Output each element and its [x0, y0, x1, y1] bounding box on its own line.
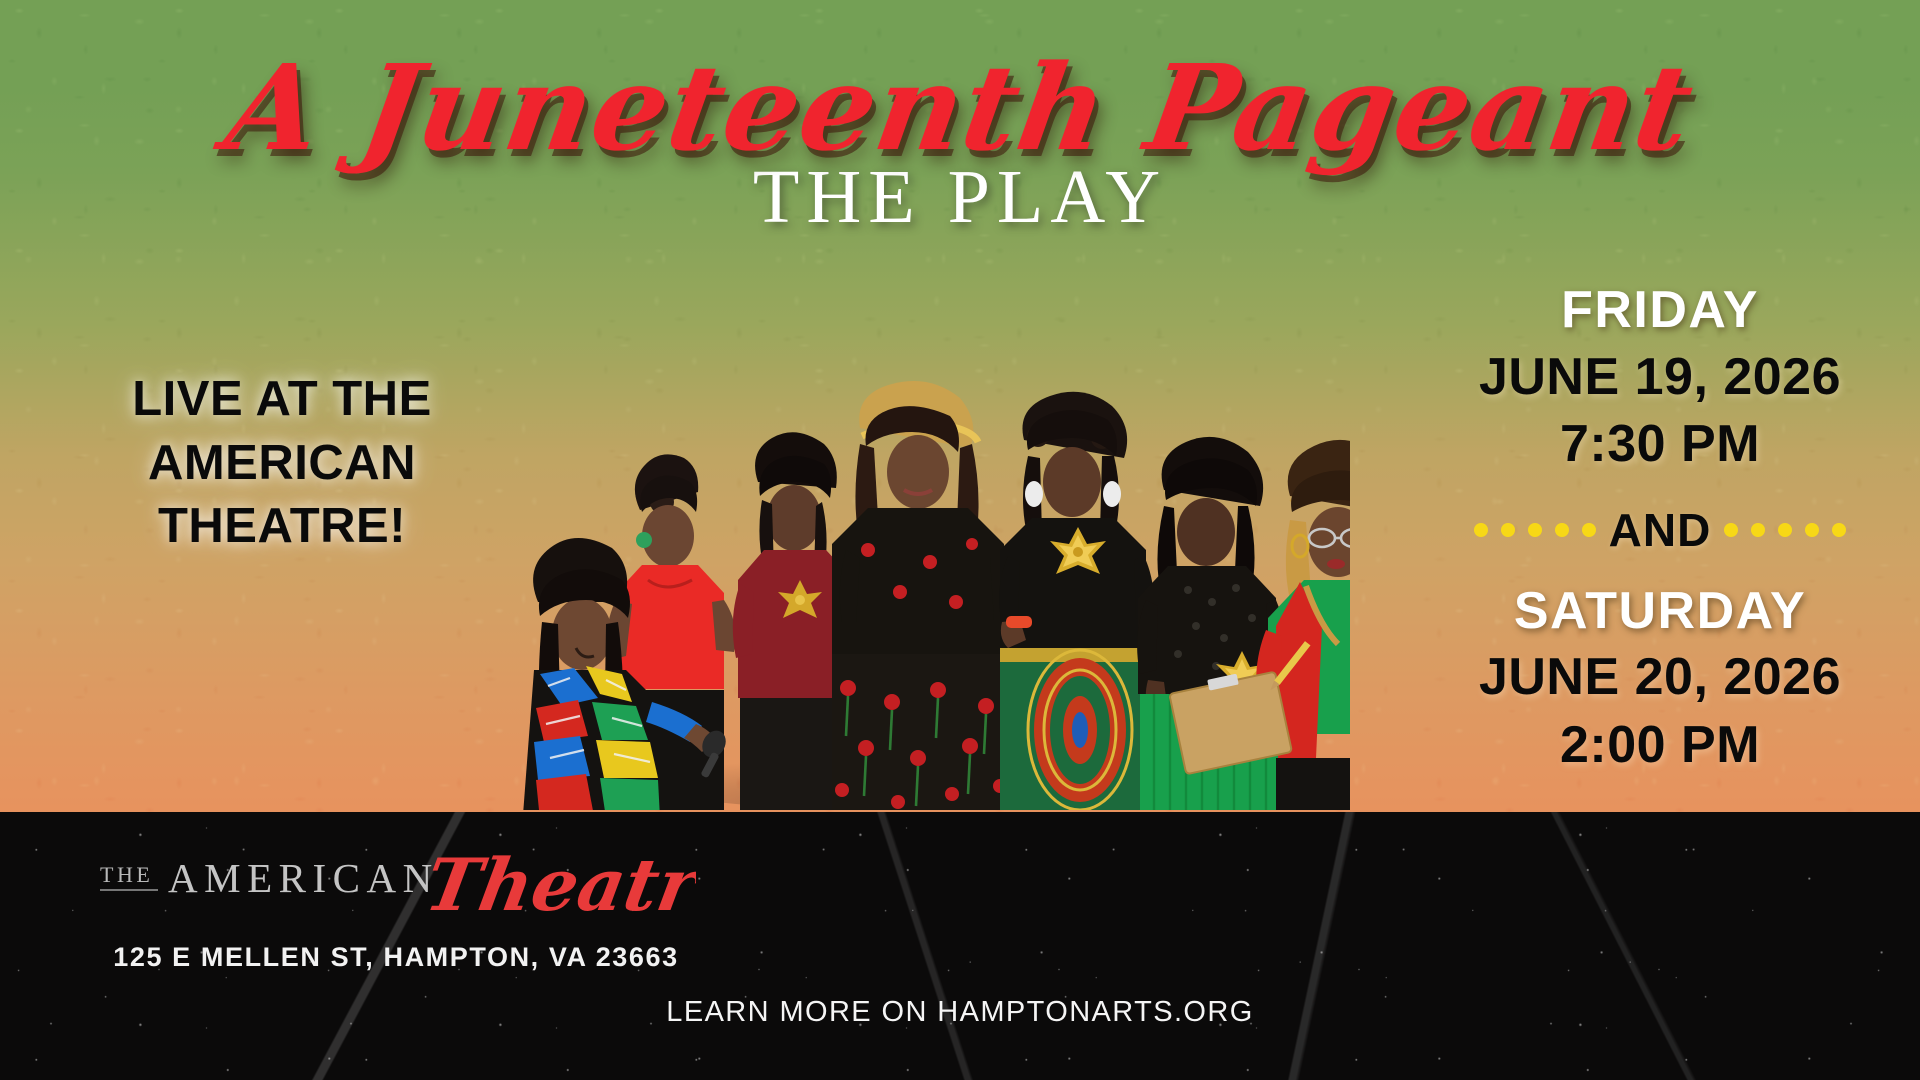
dot: [1832, 523, 1846, 537]
show1-day: FRIDAY: [1440, 278, 1880, 344]
svg-text:AMERICAN: AMERICAN: [168, 855, 439, 901]
footer-bar: THE AMERICAN Theatre 125 E MELLEN ST, HA…: [0, 812, 1920, 1080]
svg-text:Theatre: Theatre: [419, 844, 696, 928]
and-divider: AND: [1440, 503, 1880, 557]
dot: [1751, 523, 1765, 537]
dot: [1805, 523, 1819, 537]
dot: [1501, 523, 1515, 537]
venue-line-3: THEATRE!: [92, 495, 472, 559]
show2-time: 2:00 PM: [1440, 712, 1880, 780]
and-label: AND: [1609, 503, 1712, 557]
venue-line-1: LIVE AT THE: [92, 368, 472, 432]
poster-root: A Juneteenth Pageant THE PLAY LIVE AT TH…: [0, 0, 1920, 1080]
cast-photo: [500, 250, 1350, 810]
show2-day: SATURDAY: [1440, 579, 1880, 645]
venue-callout: LIVE AT THE AMERICAN THEATRE!: [92, 368, 472, 559]
showtimes-block: FRIDAY JUNE 19, 2026 7:30 PM AND SATURDA…: [1440, 278, 1880, 779]
show2-date: JUNE 20, 2026: [1440, 644, 1880, 712]
svg-text:THE: THE: [100, 862, 153, 887]
dot: [1582, 523, 1596, 537]
dot: [1778, 523, 1792, 537]
dots-left: [1474, 523, 1596, 537]
show1-time: 7:30 PM: [1440, 411, 1880, 479]
title-block: A Juneteenth Pageant THE PLAY: [0, 48, 1920, 241]
show1-date: JUNE 19, 2026: [1440, 344, 1880, 412]
venue-line-2: AMERICAN: [92, 432, 472, 496]
title-script: A Juneteenth Pageant: [0, 48, 1920, 168]
dot: [1528, 523, 1542, 537]
dots-right: [1724, 523, 1846, 537]
theatre-address: 125 E MELLEN ST, HAMPTON, VA 23663: [96, 942, 696, 973]
american-theatre-logo: THE AMERICAN Theatre: [96, 844, 696, 942]
dot: [1555, 523, 1569, 537]
dot: [1724, 523, 1738, 537]
dot: [1474, 523, 1488, 537]
learn-more-text[interactable]: LEARN MORE ON HAMPTONARTS.ORG: [560, 996, 1360, 1029]
